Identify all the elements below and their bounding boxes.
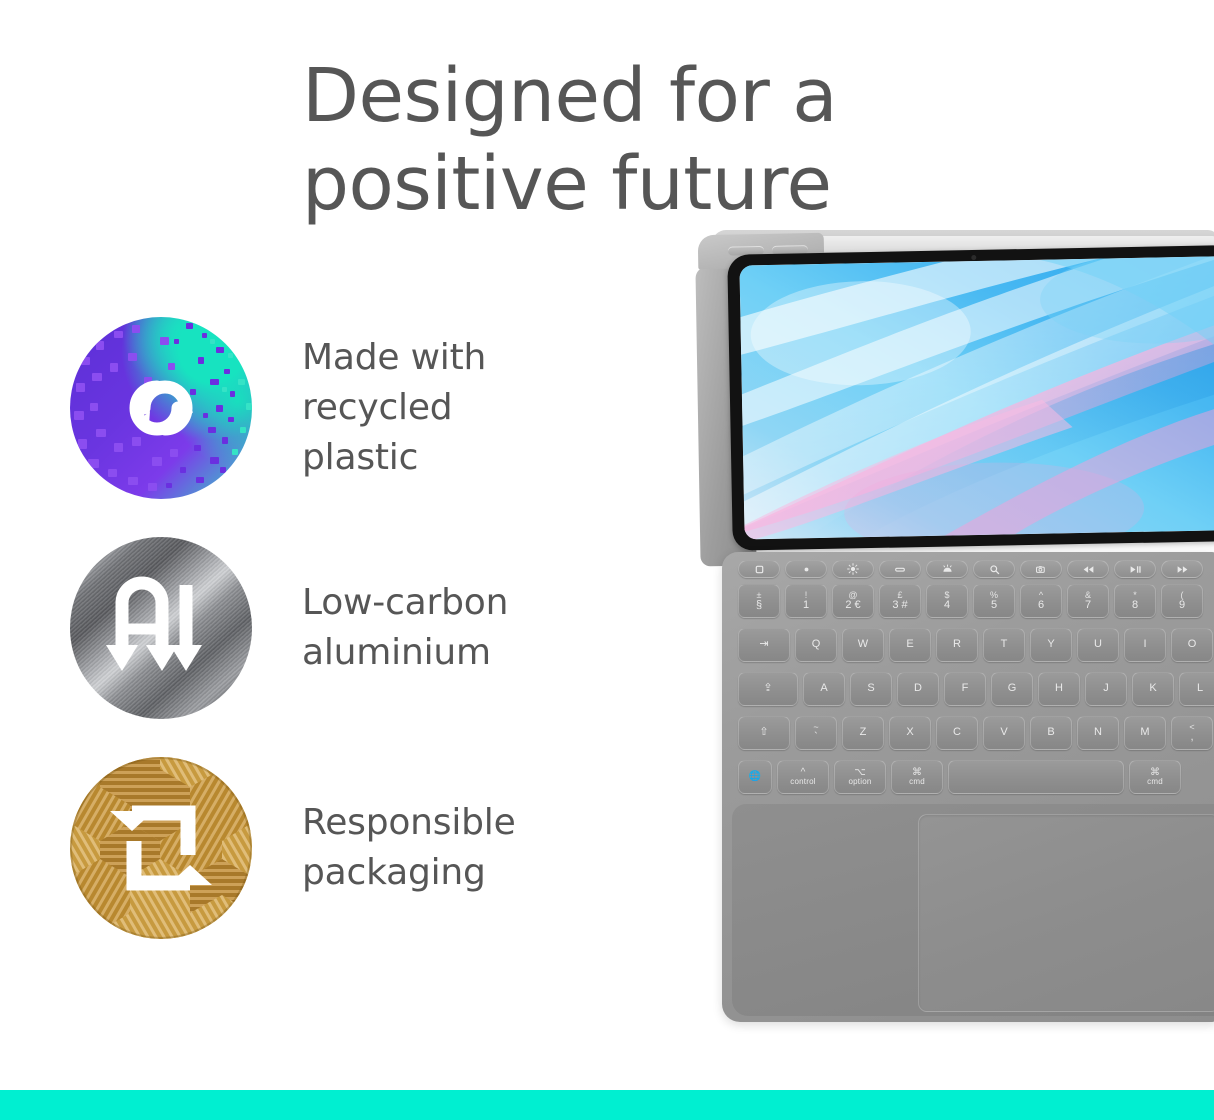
key-legend-top: % — [990, 591, 998, 600]
screen-bezel — [727, 245, 1214, 550]
key-8[interactable]: *8 — [1114, 584, 1156, 618]
key-legend-bottom: J — [1103, 683, 1109, 695]
label-line: Responsible — [302, 798, 516, 848]
key-legend-top: < — [1189, 723, 1194, 732]
key-y[interactable]: Y — [1030, 628, 1072, 662]
key-play-pause[interactable] — [1114, 560, 1156, 578]
key-legend-bottom: F — [962, 683, 969, 695]
screenshot-icon — [1035, 564, 1047, 575]
key-legend-bottom: 8 — [1132, 600, 1138, 612]
key-legend-bottom: M — [1140, 727, 1149, 739]
key-t[interactable]: T — [983, 628, 1025, 662]
label-line: Low-carbon — [302, 578, 508, 628]
key-legend-bottom: N — [1094, 727, 1102, 739]
key-legend-bottom: E — [906, 639, 913, 651]
key-legend-top: ⌘ — [1150, 768, 1160, 779]
key-key[interactable]: ~` — [795, 716, 837, 750]
key-caps-lock[interactable]: ⇪ — [738, 672, 798, 706]
key-e[interactable]: E — [889, 628, 931, 662]
key-legend-top: ! — [805, 591, 808, 600]
key-rewind[interactable] — [1067, 560, 1109, 578]
key-cmd[interactable]: ⌘cmd — [891, 760, 943, 794]
key-legend-top: ~ — [813, 723, 818, 732]
key-legend-bottom: 4 — [944, 600, 950, 612]
feature-recycled-plastic: Made with recycled plastic — [70, 312, 630, 504]
key-shift-left[interactable]: ⇧ — [738, 716, 790, 750]
key-legend-bottom: cmd — [1147, 778, 1163, 786]
key-legend-bottom: D — [914, 683, 922, 695]
wallpaper-abstract-gradient — [739, 256, 1214, 539]
label-line: packaging — [302, 848, 516, 898]
packaging-loop-arrow-icon — [70, 757, 252, 939]
key-legend-bottom: Q — [812, 639, 821, 651]
key-tab[interactable]: ⇥ — [738, 628, 790, 662]
badge-recycled-plastic — [70, 317, 252, 499]
key-legend-top: 🌐 — [749, 772, 761, 783]
key-legend-bottom: G — [1008, 683, 1017, 695]
key-legend-top: ( — [1181, 591, 1184, 600]
key-legend-bottom: control — [790, 778, 815, 786]
play-pause-icon — [1129, 565, 1142, 574]
key-legend-top: £ — [897, 591, 902, 600]
key-home[interactable] — [738, 560, 780, 578]
key-z[interactable]: Z — [842, 716, 884, 750]
key-legend-bottom: H — [1055, 683, 1063, 695]
key-legend-bottom: X — [906, 727, 913, 739]
feature-low-carbon-aluminium: Low-carbon aluminium — [70, 532, 630, 724]
key-legend-top: ± — [757, 591, 762, 600]
key-legend-bottom: § — [756, 600, 762, 612]
key-a[interactable]: A — [803, 672, 845, 706]
front-camera-icon — [971, 255, 976, 260]
tablet-screen[interactable] — [739, 256, 1214, 539]
key-legend-bottom: Y — [1047, 639, 1054, 651]
product-image-tablet-keyboard-case: ±§!1@2 €£3 #$4%5^6&7*8(9 ⇥QWERTYUIO ⇪ASD… — [688, 222, 1214, 1032]
key-keyboard-backlight[interactable] — [926, 560, 968, 578]
key-legend-top: ^ — [1039, 591, 1043, 600]
key-u[interactable]: U — [1077, 628, 1119, 662]
key-globe[interactable]: 🌐 — [738, 760, 772, 794]
key-legend-bottom: W — [858, 639, 868, 651]
key-legend-bottom: A — [820, 683, 827, 695]
key-legend-bottom: 1 — [803, 600, 809, 612]
key-legend-bottom: option — [849, 778, 872, 786]
key-b[interactable]: B — [1030, 716, 1072, 750]
key-brightness-high[interactable] — [832, 560, 874, 578]
key-v[interactable]: V — [983, 716, 1025, 750]
key-4[interactable]: $4 — [926, 584, 968, 618]
key-spotlight-search[interactable] — [973, 560, 1015, 578]
key-control[interactable]: ^control — [777, 760, 829, 794]
label-line: plastic — [302, 433, 486, 483]
key-g[interactable]: G — [991, 672, 1033, 706]
key-x[interactable]: X — [889, 716, 931, 750]
key-f[interactable]: F — [944, 672, 986, 706]
key-cmd-right[interactable]: ⌘cmd — [1129, 760, 1181, 794]
function-key-row — [738, 560, 1203, 578]
key-legend-bottom: 3 # — [892, 600, 907, 612]
key-space[interactable] — [948, 760, 1124, 794]
recycle-loop-icon — [70, 317, 252, 499]
aluminium-down-arrows-icon — [70, 537, 252, 719]
feature-label-responsible-packaging: Responsible packaging — [302, 798, 516, 898]
badge-low-carbon-aluminium — [70, 537, 252, 719]
key-legend-bottom: ⇧ — [759, 727, 768, 739]
spotlight-search-icon — [989, 564, 1000, 575]
key-l[interactable]: L — [1179, 672, 1214, 706]
key-legend-bottom: B — [1047, 727, 1054, 739]
key-legend-bottom: L — [1197, 683, 1203, 695]
feature-label-low-carbon-aluminium: Low-carbon aluminium — [302, 578, 508, 678]
key-legend-bottom: C — [953, 727, 961, 739]
key-screenshot[interactable] — [1020, 560, 1062, 578]
brightness-low-icon — [801, 564, 812, 575]
trackpad[interactable] — [918, 814, 1214, 1012]
sustainability-feature-list: Made with recycled plastic — [70, 312, 630, 972]
key-legend-top: ^ — [801, 768, 806, 779]
key-legend-bottom: , — [1190, 732, 1193, 744]
key-deck: ±§!1@2 €£3 #$4%5^6&7*8(9 ⇥QWERTYUIO ⇪ASD… — [738, 558, 1214, 800]
key-3[interactable]: £3 # — [879, 584, 921, 618]
key-m[interactable]: M — [1124, 716, 1166, 750]
badge-responsible-packaging — [70, 757, 252, 939]
key-c[interactable]: C — [936, 716, 978, 750]
key-legend-bottom: cmd — [909, 778, 925, 786]
key-legend-top: ⌥ — [854, 768, 866, 779]
key-legend-bottom: ⇥ — [759, 639, 768, 651]
key-legend-top: & — [1085, 591, 1091, 600]
key-w[interactable]: W — [842, 628, 884, 662]
modifier-key-row: 🌐^control⌥option⌘cmd⌘cmd — [738, 760, 1181, 794]
key-legend-bottom: O — [1188, 639, 1197, 651]
key-legend-bottom: U — [1094, 639, 1102, 651]
home-key-row: ⇪ASDFGHJKL — [738, 672, 1214, 706]
page-title: Designed for a positive future — [302, 52, 1002, 228]
key-legend-bottom: 5 — [991, 600, 997, 612]
key-legend-bottom: 9 — [1179, 600, 1185, 612]
key-legend-top: @ — [848, 591, 857, 600]
key-d[interactable]: D — [897, 672, 939, 706]
key-legend-bottom: ` — [814, 732, 818, 744]
headline-line-1: Designed for a — [302, 52, 1002, 140]
tablet-device — [698, 230, 1214, 548]
key-s[interactable]: S — [850, 672, 892, 706]
key-legend-bottom: Z — [860, 727, 867, 739]
key-legend-bottom: 2 € — [845, 600, 860, 612]
key-2[interactable]: @2 € — [832, 584, 874, 618]
number-key-row: ±§!1@2 €£3 #$4%5^6&7*8(9 — [738, 584, 1203, 618]
keyboard-case: ±§!1@2 €£3 #$4%5^6&7*8(9 ⇥QWERTYUIO ⇪ASD… — [722, 552, 1214, 1022]
key-6[interactable]: ^6 — [1020, 584, 1062, 618]
key-brightness-low[interactable] — [785, 560, 827, 578]
qwerty-key-row: ⇥QWERTYUIO — [738, 628, 1213, 662]
fast-forward-icon — [1176, 565, 1189, 574]
key-k[interactable]: K — [1132, 672, 1174, 706]
shift-key-row: ⇧~`ZXCVBNM<, — [738, 716, 1213, 750]
label-line: Made with — [302, 333, 486, 383]
key-legend-top: $ — [944, 591, 949, 600]
key-legend-bottom: 7 — [1085, 600, 1091, 612]
key-n[interactable]: N — [1077, 716, 1119, 750]
key-9[interactable]: (9 — [1161, 584, 1203, 618]
key-key[interactable]: <, — [1171, 716, 1213, 750]
key-o[interactable]: O — [1171, 628, 1213, 662]
key-legend-top: ⌘ — [912, 768, 922, 779]
key-option[interactable]: ⌥option — [834, 760, 886, 794]
key-legend-bottom: I — [1143, 639, 1146, 651]
key-fast-forward[interactable] — [1161, 560, 1203, 578]
key-1[interactable]: !1 — [785, 584, 827, 618]
key-legend-bottom: V — [1000, 727, 1007, 739]
key-q[interactable]: Q — [795, 628, 837, 662]
key-i[interactable]: I — [1124, 628, 1166, 662]
keyboard-backlight-icon — [941, 564, 954, 575]
key-h[interactable]: H — [1038, 672, 1080, 706]
key-legend-bottom: S — [867, 683, 874, 695]
key-7[interactable]: &7 — [1067, 584, 1109, 618]
key-key[interactable]: ±§ — [738, 584, 780, 618]
key-legend-bottom: ⇪ — [763, 683, 772, 695]
key-5[interactable]: %5 — [973, 584, 1015, 618]
key-legend-bottom: K — [1149, 683, 1156, 695]
key-legend-bottom: 6 — [1038, 600, 1044, 612]
brand-accent-bar — [0, 1090, 1214, 1120]
headline-line-2: positive future — [302, 140, 1002, 228]
label-line: aluminium — [302, 628, 508, 678]
product-feature-panel: Designed for a positive future — [0, 0, 1214, 1120]
key-legend-bottom: T — [1001, 639, 1008, 651]
brightness-high-icon — [847, 563, 859, 575]
screen-lock-icon — [894, 564, 906, 575]
key-r[interactable]: R — [936, 628, 978, 662]
home-square-icon — [754, 564, 765, 575]
rewind-icon — [1082, 565, 1095, 574]
feature-label-recycled-plastic: Made with recycled plastic — [302, 333, 486, 483]
key-screen-lock[interactable] — [879, 560, 921, 578]
feature-responsible-packaging: Responsible packaging — [70, 752, 630, 944]
key-legend-top: * — [1133, 591, 1137, 600]
key-legend-bottom: R — [953, 639, 961, 651]
label-line: recycled — [302, 383, 486, 433]
key-j[interactable]: J — [1085, 672, 1127, 706]
